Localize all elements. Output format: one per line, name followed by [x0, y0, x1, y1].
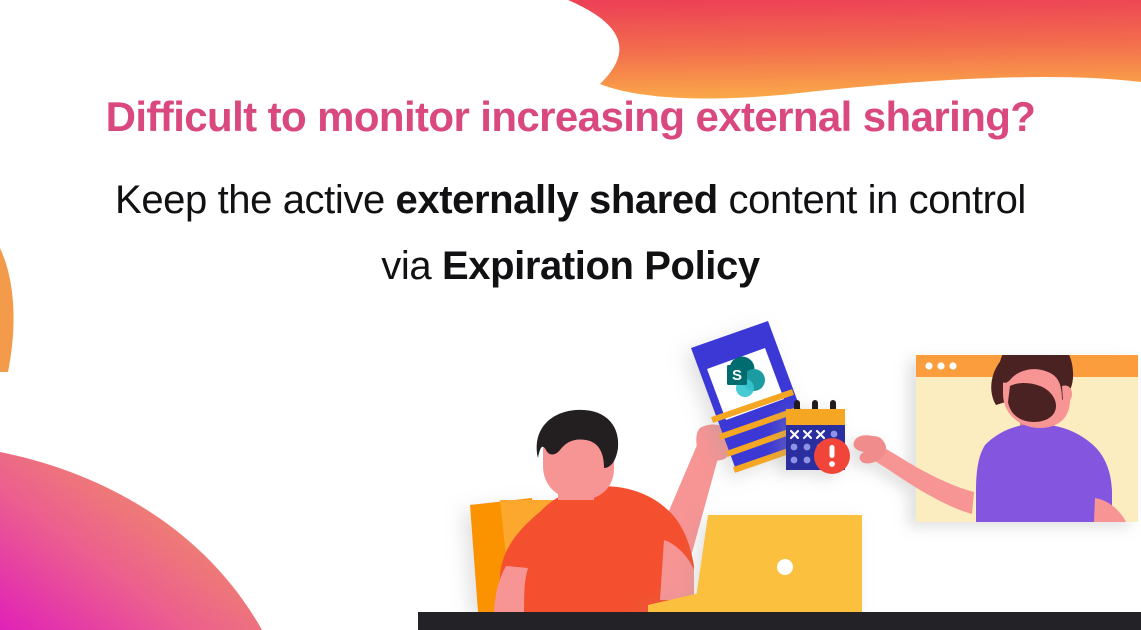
expiry-alert-badge — [814, 438, 850, 474]
subheading-line1-suffix: content in control — [718, 178, 1026, 222]
window-dot-3 — [949, 362, 956, 369]
subheading-line1-prefix: Keep the active — [115, 178, 395, 222]
calendar-dot-r2c2 — [804, 444, 811, 451]
banner-canvas: Difficult to monitor increasing external… — [0, 0, 1141, 630]
calendar-dot-r3c1 — [791, 457, 798, 464]
subheading-line-1: Keep the active externally shared conten… — [0, 180, 1141, 220]
desk-surface — [418, 612, 1141, 630]
subheading-line1-emphasis: externally shared — [396, 178, 718, 222]
video-call-window — [854, 336, 1138, 523]
subheading-line2-emphasis: Expiration Policy — [442, 244, 760, 288]
calendar-dot-r2c1 — [791, 444, 798, 451]
laptop-logo-dot — [777, 559, 793, 575]
window-dot-1 — [925, 362, 932, 369]
text-block: Difficult to monitor increasing external… — [0, 96, 1141, 286]
subheading-line-2: via Expiration Policy — [0, 246, 1141, 286]
alert-exclamation-dot — [829, 461, 835, 467]
calendar-dot-r3c2 — [804, 457, 811, 464]
sharepoint-letter: S — [732, 367, 742, 384]
expiration-calendar — [786, 400, 850, 474]
alert-exclamation-stem — [830, 445, 835, 458]
calendar-header — [786, 409, 845, 425]
calendar-dot-r1c4 — [831, 431, 838, 438]
subheading-line2-prefix: via — [381, 244, 442, 288]
window-dot-2 — [937, 362, 944, 369]
page-title: Difficult to monitor increasing external… — [0, 96, 1141, 138]
